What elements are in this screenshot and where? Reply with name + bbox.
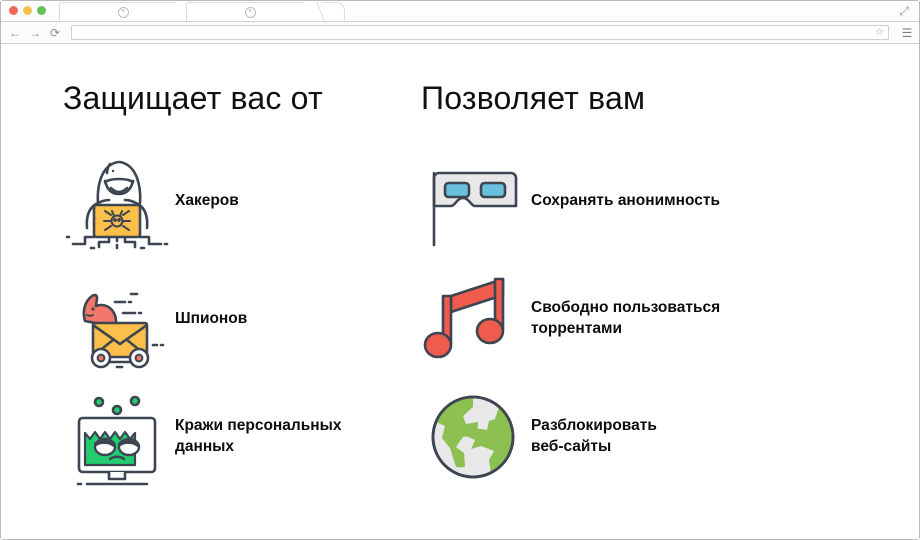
bookmark-star-icon[interactable]: ☆ (875, 28, 884, 38)
browser-tab-1[interactable]: × (59, 2, 187, 21)
feature-label-line1: Свободно пользоваться (531, 299, 720, 316)
browser-window: × × ⤢ ← → ⟳ ☆ ☰ Защищает вас от (0, 0, 920, 540)
feature-label-line1: Хакеров (175, 192, 239, 209)
close-icon[interactable]: × (245, 7, 256, 18)
feature-row: Сохранять анонимность (421, 151, 871, 251)
browser-tab-2[interactable]: × (186, 2, 314, 21)
feature-label: Кражи персональных данных (175, 416, 342, 458)
feature-row: Хакеров (63, 151, 411, 251)
globe-icon (421, 387, 529, 487)
forward-icon[interactable]: → (29, 27, 41, 39)
mask-glasses-icon (421, 151, 529, 251)
back-icon[interactable]: ← (9, 27, 21, 39)
window-controls (9, 6, 46, 15)
page-title-allows: Позволяет вам (421, 80, 871, 117)
reload-icon[interactable]: ⟳ (49, 27, 61, 39)
feature-label-line1: Шпионов (175, 310, 247, 327)
trojan-horse-icon (63, 269, 171, 369)
close-icon[interactable]: × (118, 7, 129, 18)
feature-label: Свободно пользоваться торрентами (531, 298, 720, 340)
feature-label: Разблокировать веб-сайты (531, 416, 657, 458)
feature-row: Свободно пользоваться торрентами (421, 269, 871, 369)
tab-list: × × (59, 0, 345, 21)
expand-window-icon[interactable]: ⤢ (899, 5, 909, 17)
feature-label-line2: данных (175, 437, 342, 458)
minimize-window-button[interactable] (23, 6, 32, 15)
page-title-protects: Защищает вас от (63, 80, 411, 117)
feature-columns: Защищает вас от (1, 44, 919, 505)
feature-label-line1: Кражи персональных (175, 417, 342, 434)
identity-theft-monitor-icon (63, 387, 171, 487)
address-bar[interactable]: ☆ (71, 25, 889, 40)
tab-strip: × × ⤢ (1, 1, 919, 22)
feature-label: Шпионов (175, 309, 247, 330)
feature-label: Сохранять анонимность (531, 191, 720, 212)
column-protects: Защищает вас от (1, 80, 411, 505)
maximize-window-button[interactable] (37, 6, 46, 15)
feature-label-line2: веб-сайты (531, 437, 657, 458)
feature-label: Хакеров (175, 191, 239, 212)
hacker-icon (63, 151, 171, 251)
address-input[interactable] (76, 28, 875, 38)
music-note-icon (421, 269, 529, 369)
close-window-button[interactable] (9, 6, 18, 15)
new-tab-button[interactable] (323, 2, 345, 21)
browser-toolbar: ← → ⟳ ☆ ☰ (1, 22, 919, 44)
feature-row: Разблокировать веб-сайты (421, 387, 871, 487)
column-allows: Позволяет вам Сохранять анонимность (411, 80, 871, 505)
feature-label-line1: Разблокировать (531, 417, 657, 434)
feature-label-line2: торрентами (531, 319, 720, 340)
hamburger-menu-icon[interactable]: ☰ (901, 27, 913, 39)
feature-row: Шпионов (63, 269, 411, 369)
page-content: Защищает вас от (1, 44, 919, 539)
feature-label-line1: Сохранять анонимность (531, 192, 720, 209)
feature-row: Кражи персональных данных (63, 387, 411, 487)
